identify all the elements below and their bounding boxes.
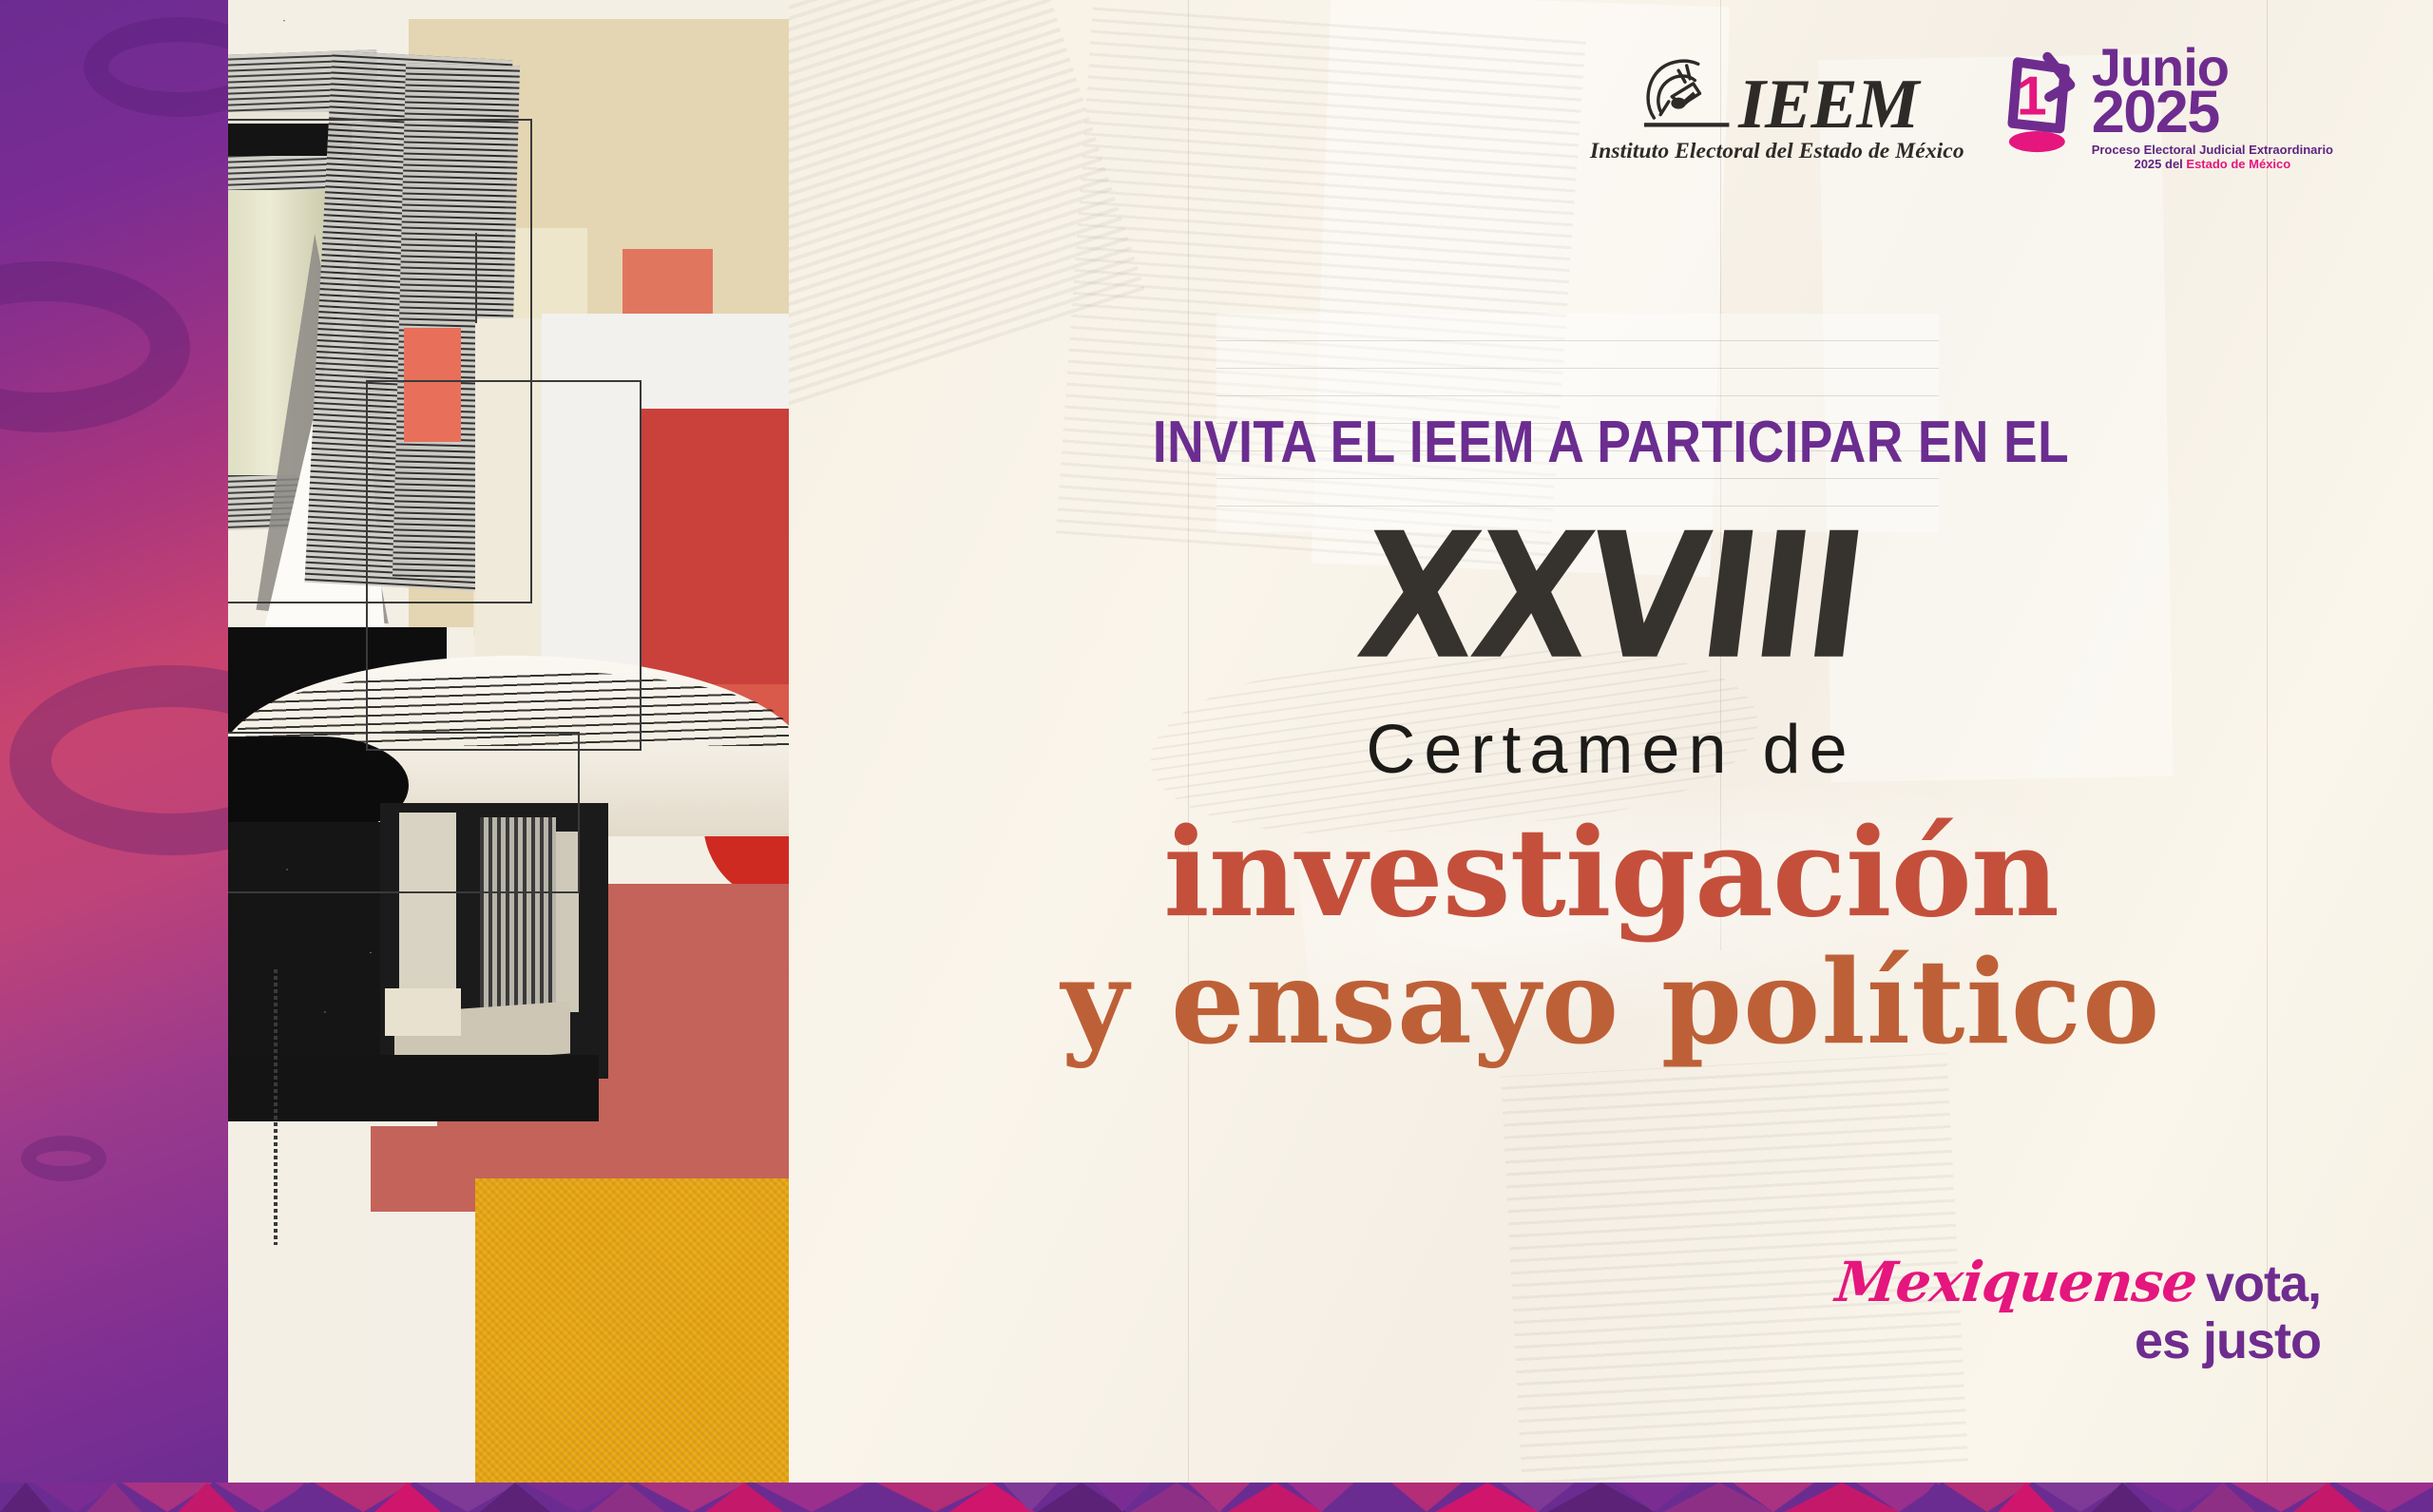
junio-subtitle-prefix: 2025 del: [2134, 157, 2186, 171]
ieem-wordmark: IEEM: [1738, 75, 1918, 136]
collage-yellow-block: [475, 1178, 789, 1483]
svg-text:1: 1: [2017, 67, 2047, 127]
junio-2025-logo[interactable]: 1 Junio 2025 Proceso Electoral Judicial …: [1997, 43, 2333, 172]
junio-subtitle-highlight: Estado de México: [2186, 157, 2290, 171]
decorative-ring-icon: [84, 17, 228, 117]
main-content-panel: IEEM Instituto Electoral del Estado de M…: [789, 0, 2433, 1483]
junio-subtitle-line2: 2025 del Estado de México: [2092, 158, 2333, 172]
campaign-tagline: Mexiquense vota, es justo: [1836, 1254, 2321, 1367]
junio-subtitle-line1: Proceso Electoral Judicial Extraordinari…: [2092, 144, 2333, 158]
logo-bar: IEEM Instituto Electoral del Estado de M…: [1590, 43, 2333, 172]
ballot-box-one-icon: 1: [1997, 43, 2084, 155]
bottom-geometric-band: [0, 1483, 2433, 1512]
collage-red-block: [642, 409, 789, 694]
band-triangle: [2402, 1483, 2433, 1512]
collage-rule-line: [475, 233, 477, 323]
certamen-label: Certamen de: [789, 711, 2433, 789]
collage-newsprint-scrap: [283, 1090, 430, 1199]
decorative-ring-icon: [21, 1136, 106, 1181]
paper-collage-artwork: [228, 0, 789, 1483]
collage-outline-rectangle: [366, 380, 642, 751]
title-line-ensayo-politico: y ensayo político: [789, 941, 2433, 1062]
ieem-logo[interactable]: IEEM Instituto Electoral del Estado de M…: [1590, 43, 1964, 164]
title-line-investigacion: investigación: [789, 810, 2433, 937]
left-gradient-panel: [0, 0, 228, 1512]
decorative-ring-icon: [10, 665, 228, 855]
junio-subtitle: Proceso Electoral Judicial Extraordinari…: [2092, 144, 2333, 172]
collage-white-block: [371, 1212, 480, 1483]
hand-ballot-box-icon: [1636, 54, 1734, 136]
collage-rule-line: [274, 969, 278, 1245]
tagline-script-word: Mexiquense: [1833, 1254, 2199, 1310]
tagline-bold-word1: vota,: [2206, 1258, 2321, 1310]
ieem-subtitle: Instituto Electoral del Estado de México: [1590, 139, 1964, 164]
edition-roman-numeral: XXVIII: [789, 510, 2433, 683]
junio-year-label: 2025: [2092, 87, 2333, 138]
invitation-kicker: INVITA EL IEEM A PARTICIPAR EN EL: [904, 409, 2318, 476]
collage-outline-rectangle: [228, 732, 580, 893]
decorative-ring-icon: [0, 261, 190, 432]
poster-canvas: IEEM Instituto Electoral del Estado de M…: [0, 0, 2433, 1512]
tagline-bold-word2: es justo: [1836, 1315, 2321, 1367]
